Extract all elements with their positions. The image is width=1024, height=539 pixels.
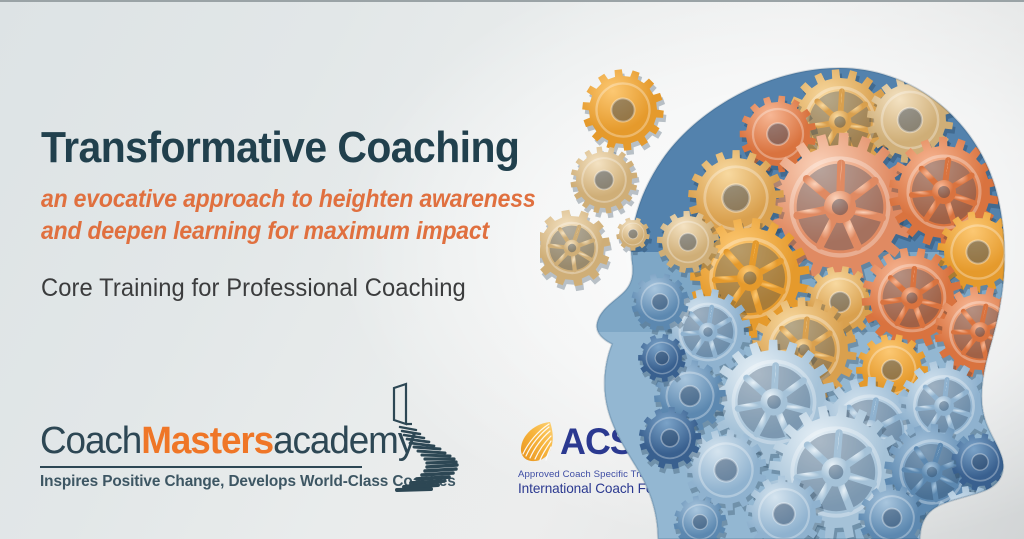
staircase-door-icon [372,380,482,495]
gear [562,139,647,225]
cma-wordmark: CoachMastersacademy [40,422,428,460]
course-tagline: Core Training for Professional Coaching [41,274,516,303]
promotional-banner: Transformative Coaching an evocative app… [0,0,1024,539]
subtitle-line-2: and deepen learning for maximum impact [41,215,501,247]
cma-word-masters: Masters [141,420,273,462]
coach-masters-academy-logo: CoachMastersacademy Inspires Positive Ch… [40,422,440,512]
cma-divider-rule [40,466,362,468]
page-title: Transformative Coaching [41,126,506,170]
gear-head-illustration [540,2,1024,539]
headline-block: Transformative Coaching an evocative app… [41,126,541,303]
gear [578,66,671,159]
cma-word-coach: Coach [40,420,141,462]
subtitle-line-1: an evocative approach to heighten awaren… [41,183,501,215]
